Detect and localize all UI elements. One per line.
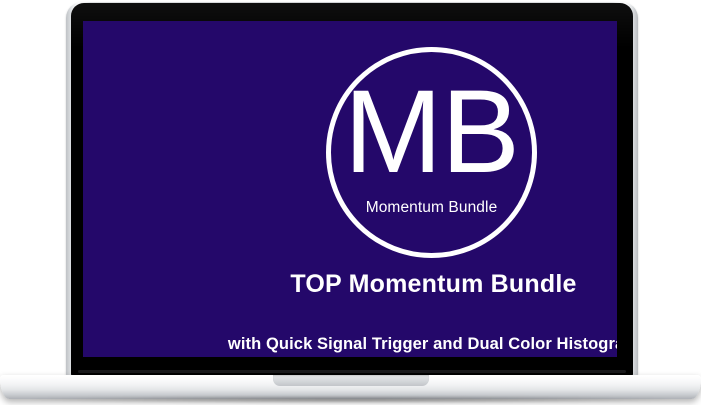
logo-caption: Momentum Bundle [326, 199, 537, 217]
laptop-screen: MB Momentum Bundle TOP Momentum Bundle w… [83, 21, 617, 357]
laptop-hinge [78, 370, 626, 373]
screenshot-stage: MB Momentum Bundle TOP Momentum Bundle w… [0, 0, 701, 405]
laptop-ground-shadow [30, 396, 671, 403]
subheadline-text: with Quick Signal Trigger and Dual Color… [83, 335, 617, 354]
logo-monogram: MB [326, 69, 537, 195]
headline-title: TOP Momentum Bundle [83, 270, 617, 299]
laptop-base-notch [273, 375, 429, 386]
brand-logo: MB Momentum Bundle [326, 47, 537, 258]
